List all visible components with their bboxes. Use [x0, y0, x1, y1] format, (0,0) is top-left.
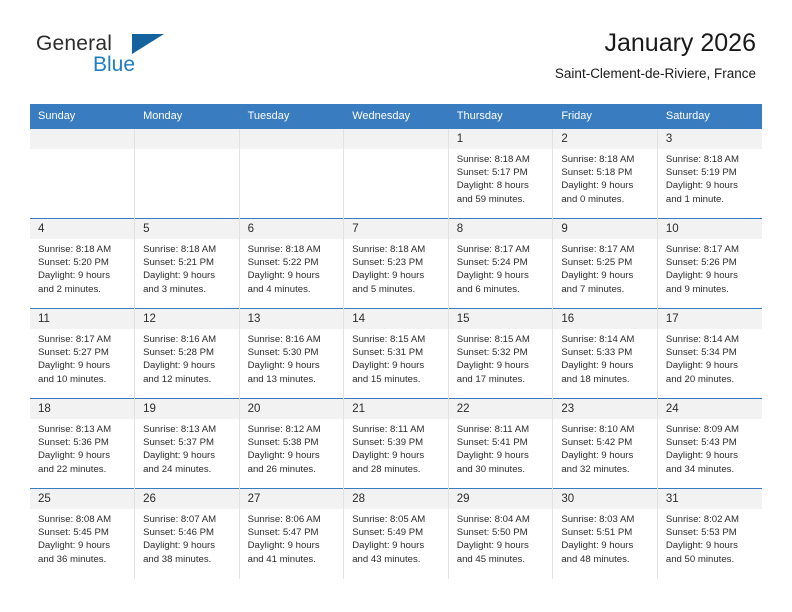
calendar-day-cell[interactable]: 9Sunrise: 8:17 AMSunset: 5:25 PMDaylight…	[553, 219, 658, 309]
cell-inner	[135, 129, 239, 218]
calendar-day-cell[interactable]: 19Sunrise: 8:13 AMSunset: 5:37 PMDayligh…	[135, 399, 240, 489]
weekday-header-monday: Monday	[135, 104, 240, 129]
day-number: 21	[344, 399, 448, 419]
sunrise-text: Sunrise: 8:08 AM	[38, 513, 128, 526]
sunset-text: Sunset: 5:46 PM	[143, 526, 233, 539]
sunrise-text: Sunrise: 8:13 AM	[38, 423, 128, 436]
sunrise-text: Sunrise: 8:16 AM	[248, 333, 338, 346]
day-sun-info: Sunrise: 8:18 AMSunset: 5:21 PMDaylight:…	[135, 239, 239, 296]
cell-inner: 30Sunrise: 8:03 AMSunset: 5:51 PMDayligh…	[553, 489, 657, 579]
day-number: 17	[658, 309, 762, 329]
day-sun-info: Sunrise: 8:18 AMSunset: 5:19 PMDaylight:…	[658, 149, 762, 206]
day-sun-info: Sunrise: 8:16 AMSunset: 5:28 PMDaylight:…	[135, 329, 239, 386]
calendar-day-cell[interactable]: 3Sunrise: 8:18 AMSunset: 5:19 PMDaylight…	[657, 129, 762, 219]
sunset-text: Sunset: 5:28 PM	[143, 346, 233, 359]
calendar-day-cell[interactable]: 7Sunrise: 8:18 AMSunset: 5:23 PMDaylight…	[344, 219, 449, 309]
sunset-text: Sunset: 5:41 PM	[457, 436, 547, 449]
daylight-text-1: Daylight: 9 hours	[561, 539, 651, 552]
daylight-text-1: Daylight: 9 hours	[561, 179, 651, 192]
weekday-header-thursday: Thursday	[448, 104, 553, 129]
weekday-header-saturday: Saturday	[657, 104, 762, 129]
daylight-text-1: Daylight: 9 hours	[248, 449, 338, 462]
cell-inner: 22Sunrise: 8:11 AMSunset: 5:41 PMDayligh…	[449, 399, 553, 488]
calendar-cell-empty	[239, 129, 344, 219]
daylight-text-2: and 12 minutes.	[143, 373, 233, 386]
day-number: 26	[135, 489, 239, 509]
daylight-text-1: Daylight: 9 hours	[457, 269, 547, 282]
daylight-text-1: Daylight: 9 hours	[352, 359, 442, 372]
day-number-placeholder	[240, 129, 344, 149]
daylight-text-1: Daylight: 9 hours	[666, 539, 756, 552]
calendar-day-cell[interactable]: 8Sunrise: 8:17 AMSunset: 5:24 PMDaylight…	[448, 219, 553, 309]
daylight-text-2: and 32 minutes.	[561, 463, 651, 476]
sunrise-text: Sunrise: 8:18 AM	[561, 153, 651, 166]
sunrise-text: Sunrise: 8:17 AM	[561, 243, 651, 256]
daylight-text-2: and 41 minutes.	[248, 553, 338, 566]
sunrise-text: Sunrise: 8:05 AM	[352, 513, 442, 526]
cell-inner: 18Sunrise: 8:13 AMSunset: 5:36 PMDayligh…	[30, 399, 134, 488]
sunrise-text: Sunrise: 8:03 AM	[561, 513, 651, 526]
day-sun-info: Sunrise: 8:07 AMSunset: 5:46 PMDaylight:…	[135, 509, 239, 566]
day-number: 6	[240, 219, 344, 239]
daylight-text-2: and 2 minutes.	[38, 283, 128, 296]
day-number: 15	[449, 309, 553, 329]
daylight-text-1: Daylight: 9 hours	[38, 539, 128, 552]
sunrise-text: Sunrise: 8:12 AM	[248, 423, 338, 436]
day-number: 8	[449, 219, 553, 239]
sunrise-text: Sunrise: 8:14 AM	[561, 333, 651, 346]
sunrise-text: Sunrise: 8:15 AM	[457, 333, 547, 346]
sunset-text: Sunset: 5:47 PM	[248, 526, 338, 539]
daylight-text-1: Daylight: 9 hours	[352, 269, 442, 282]
sunset-text: Sunset: 5:53 PM	[666, 526, 756, 539]
day-sun-info: Sunrise: 8:16 AMSunset: 5:30 PMDaylight:…	[240, 329, 344, 386]
sunrise-text: Sunrise: 8:11 AM	[457, 423, 547, 436]
cell-inner: 2Sunrise: 8:18 AMSunset: 5:18 PMDaylight…	[553, 129, 657, 218]
calendar-cell-empty	[344, 129, 449, 219]
sunset-text: Sunset: 5:36 PM	[38, 436, 128, 449]
sunrise-text: Sunrise: 8:16 AM	[143, 333, 233, 346]
calendar-day-cell[interactable]: 22Sunrise: 8:11 AMSunset: 5:41 PMDayligh…	[448, 399, 553, 489]
sunrise-text: Sunrise: 8:18 AM	[143, 243, 233, 256]
day-number: 23	[553, 399, 657, 419]
day-number: 28	[344, 489, 448, 509]
daylight-text-2: and 59 minutes.	[457, 193, 547, 206]
calendar-day-cell[interactable]: 2Sunrise: 8:18 AMSunset: 5:18 PMDaylight…	[553, 129, 658, 219]
sunset-text: Sunset: 5:49 PM	[352, 526, 442, 539]
daylight-text-2: and 20 minutes.	[666, 373, 756, 386]
calendar-day-cell[interactable]: 13Sunrise: 8:16 AMSunset: 5:30 PMDayligh…	[239, 309, 344, 399]
daylight-text-2: and 24 minutes.	[143, 463, 233, 476]
daylight-text-2: and 3 minutes.	[143, 283, 233, 296]
sunset-text: Sunset: 5:50 PM	[457, 526, 547, 539]
daylight-text-2: and 17 minutes.	[457, 373, 547, 386]
day-sun-info: Sunrise: 8:18 AMSunset: 5:22 PMDaylight:…	[240, 239, 344, 296]
sunset-text: Sunset: 5:26 PM	[666, 256, 756, 269]
sunset-text: Sunset: 5:33 PM	[561, 346, 651, 359]
day-sun-info: Sunrise: 8:13 AMSunset: 5:37 PMDaylight:…	[135, 419, 239, 476]
day-number: 18	[30, 399, 134, 419]
cell-inner	[344, 129, 448, 218]
cell-inner: 29Sunrise: 8:04 AMSunset: 5:50 PMDayligh…	[449, 489, 553, 579]
sunrise-text: Sunrise: 8:18 AM	[666, 153, 756, 166]
daylight-text-2: and 18 minutes.	[561, 373, 651, 386]
sunset-text: Sunset: 5:43 PM	[666, 436, 756, 449]
calendar-day-cell[interactable]: 5Sunrise: 8:18 AMSunset: 5:21 PMDaylight…	[135, 219, 240, 309]
calendar-day-cell[interactable]: 1Sunrise: 8:18 AMSunset: 5:17 PMDaylight…	[448, 129, 553, 219]
cell-inner: 3Sunrise: 8:18 AMSunset: 5:19 PMDaylight…	[658, 129, 762, 218]
calendar-header-row: SundayMondayTuesdayWednesdayThursdayFrid…	[30, 104, 762, 129]
day-sun-info: Sunrise: 8:08 AMSunset: 5:45 PMDaylight:…	[30, 509, 134, 566]
daylight-text-2: and 50 minutes.	[666, 553, 756, 566]
sunset-text: Sunset: 5:34 PM	[666, 346, 756, 359]
sunrise-text: Sunrise: 8:17 AM	[666, 243, 756, 256]
weekday-header-friday: Friday	[553, 104, 658, 129]
cell-inner: 11Sunrise: 8:17 AMSunset: 5:27 PMDayligh…	[30, 309, 134, 398]
cell-inner: 26Sunrise: 8:07 AMSunset: 5:46 PMDayligh…	[135, 489, 239, 579]
daylight-text-1: Daylight: 9 hours	[561, 449, 651, 462]
calendar-cell-empty	[135, 129, 240, 219]
cell-inner: 13Sunrise: 8:16 AMSunset: 5:30 PMDayligh…	[240, 309, 344, 398]
daylight-text-1: Daylight: 9 hours	[457, 449, 547, 462]
calendar-day-cell[interactable]: 24Sunrise: 8:09 AMSunset: 5:43 PMDayligh…	[657, 399, 762, 489]
day-sun-info: Sunrise: 8:17 AMSunset: 5:25 PMDaylight:…	[553, 239, 657, 296]
sunrise-text: Sunrise: 8:13 AM	[143, 423, 233, 436]
cell-inner: 5Sunrise: 8:18 AMSunset: 5:21 PMDaylight…	[135, 219, 239, 308]
daylight-text-1: Daylight: 9 hours	[457, 539, 547, 552]
sunset-text: Sunset: 5:21 PM	[143, 256, 233, 269]
sunrise-text: Sunrise: 8:02 AM	[666, 513, 756, 526]
daylight-text-2: and 30 minutes.	[457, 463, 547, 476]
calendar-day-cell[interactable]: 15Sunrise: 8:15 AMSunset: 5:32 PMDayligh…	[448, 309, 553, 399]
sunset-text: Sunset: 5:23 PM	[352, 256, 442, 269]
day-number: 1	[449, 129, 553, 149]
calendar-day-cell[interactable]: 18Sunrise: 8:13 AMSunset: 5:36 PMDayligh…	[30, 399, 135, 489]
calendar-week-row: 25Sunrise: 8:08 AMSunset: 5:45 PMDayligh…	[30, 489, 762, 579]
day-number: 24	[658, 399, 762, 419]
general-blue-logo[interactable]: General Blue	[36, 32, 236, 84]
calendar-week-row: 18Sunrise: 8:13 AMSunset: 5:36 PMDayligh…	[30, 399, 762, 489]
calendar-cell-empty	[30, 129, 135, 219]
day-sun-info: Sunrise: 8:14 AMSunset: 5:34 PMDaylight:…	[658, 329, 762, 386]
daylight-text-1: Daylight: 9 hours	[38, 359, 128, 372]
cell-inner: 31Sunrise: 8:02 AMSunset: 5:53 PMDayligh…	[658, 489, 762, 579]
daylight-text-1: Daylight: 9 hours	[143, 359, 233, 372]
day-sun-info: Sunrise: 8:11 AMSunset: 5:41 PMDaylight:…	[449, 419, 553, 476]
daylight-text-2: and 38 minutes.	[143, 553, 233, 566]
day-sun-info: Sunrise: 8:18 AMSunset: 5:17 PMDaylight:…	[449, 149, 553, 206]
cell-inner: 9Sunrise: 8:17 AMSunset: 5:25 PMDaylight…	[553, 219, 657, 308]
calendar-page: General Blue January 2026 Saint-Clement-…	[0, 0, 792, 612]
day-sun-info: Sunrise: 8:13 AMSunset: 5:36 PMDaylight:…	[30, 419, 134, 476]
calendar-body: 1Sunrise: 8:18 AMSunset: 5:17 PMDaylight…	[30, 129, 762, 579]
calendar-day-cell[interactable]: 29Sunrise: 8:04 AMSunset: 5:50 PMDayligh…	[448, 489, 553, 579]
daylight-text-1: Daylight: 9 hours	[561, 269, 651, 282]
sunrise-text: Sunrise: 8:04 AM	[457, 513, 547, 526]
day-number: 30	[553, 489, 657, 509]
daylight-text-1: Daylight: 9 hours	[666, 449, 756, 462]
day-number: 25	[30, 489, 134, 509]
sunset-text: Sunset: 5:30 PM	[248, 346, 338, 359]
sunrise-text: Sunrise: 8:18 AM	[38, 243, 128, 256]
logo-text-blue: Blue	[93, 53, 236, 77]
daylight-text-1: Daylight: 9 hours	[561, 359, 651, 372]
page-header: General Blue January 2026 Saint-Clement-…	[0, 0, 792, 72]
day-number: 31	[658, 489, 762, 509]
calendar-day-cell[interactable]: 28Sunrise: 8:05 AMSunset: 5:49 PMDayligh…	[344, 489, 449, 579]
day-sun-info: Sunrise: 8:14 AMSunset: 5:33 PMDaylight:…	[553, 329, 657, 386]
calendar-day-cell[interactable]: 26Sunrise: 8:07 AMSunset: 5:46 PMDayligh…	[135, 489, 240, 579]
cell-inner: 28Sunrise: 8:05 AMSunset: 5:49 PMDayligh…	[344, 489, 448, 579]
daylight-text-1: Daylight: 9 hours	[248, 269, 338, 282]
day-number-placeholder	[344, 129, 448, 149]
day-sun-info: Sunrise: 8:18 AMSunset: 5:23 PMDaylight:…	[344, 239, 448, 296]
daylight-text-2: and 28 minutes.	[352, 463, 442, 476]
day-number: 16	[553, 309, 657, 329]
calendar-day-cell[interactable]: 12Sunrise: 8:16 AMSunset: 5:28 PMDayligh…	[135, 309, 240, 399]
day-sun-info: Sunrise: 8:18 AMSunset: 5:20 PMDaylight:…	[30, 239, 134, 296]
daylight-text-1: Daylight: 9 hours	[248, 539, 338, 552]
weekday-header-tuesday: Tuesday	[239, 104, 344, 129]
sunrise-text: Sunrise: 8:11 AM	[352, 423, 442, 436]
calendar-day-cell[interactable]: 6Sunrise: 8:18 AMSunset: 5:22 PMDaylight…	[239, 219, 344, 309]
cell-inner: 20Sunrise: 8:12 AMSunset: 5:38 PMDayligh…	[240, 399, 344, 488]
daylight-text-2: and 4 minutes.	[248, 283, 338, 296]
cell-inner	[30, 129, 134, 218]
day-number: 9	[553, 219, 657, 239]
calendar-day-cell[interactable]: 25Sunrise: 8:08 AMSunset: 5:45 PMDayligh…	[30, 489, 135, 579]
page-title: January 2026	[555, 28, 756, 58]
daylight-text-2: and 10 minutes.	[38, 373, 128, 386]
daylight-text-2: and 0 minutes.	[561, 193, 651, 206]
cell-inner	[240, 129, 344, 218]
sunset-text: Sunset: 5:20 PM	[38, 256, 128, 269]
sunrise-text: Sunrise: 8:17 AM	[457, 243, 547, 256]
calendar-week-row: 1Sunrise: 8:18 AMSunset: 5:17 PMDaylight…	[30, 129, 762, 219]
sunset-text: Sunset: 5:24 PM	[457, 256, 547, 269]
day-number: 19	[135, 399, 239, 419]
sunset-text: Sunset: 5:51 PM	[561, 526, 651, 539]
day-number: 2	[553, 129, 657, 149]
day-number: 20	[240, 399, 344, 419]
weekday-header-sunday: Sunday	[30, 104, 135, 129]
daylight-text-2: and 43 minutes.	[352, 553, 442, 566]
day-sun-info: Sunrise: 8:15 AMSunset: 5:32 PMDaylight:…	[449, 329, 553, 386]
weekday-header: SundayMondayTuesdayWednesdayThursdayFrid…	[30, 104, 762, 129]
sunset-text: Sunset: 5:27 PM	[38, 346, 128, 359]
daylight-text-1: Daylight: 9 hours	[666, 269, 756, 282]
daylight-text-2: and 45 minutes.	[457, 553, 547, 566]
sunset-text: Sunset: 5:25 PM	[561, 256, 651, 269]
calendar-day-cell[interactable]: 17Sunrise: 8:14 AMSunset: 5:34 PMDayligh…	[657, 309, 762, 399]
sunrise-text: Sunrise: 8:10 AM	[561, 423, 651, 436]
calendar-week-row: 11Sunrise: 8:17 AMSunset: 5:27 PMDayligh…	[30, 309, 762, 399]
day-number: 7	[344, 219, 448, 239]
daylight-text-1: Daylight: 9 hours	[666, 359, 756, 372]
cell-inner: 16Sunrise: 8:14 AMSunset: 5:33 PMDayligh…	[553, 309, 657, 398]
day-sun-info: Sunrise: 8:11 AMSunset: 5:39 PMDaylight:…	[344, 419, 448, 476]
daylight-text-2: and 34 minutes.	[666, 463, 756, 476]
calendar-day-cell[interactable]: 14Sunrise: 8:15 AMSunset: 5:31 PMDayligh…	[344, 309, 449, 399]
day-sun-info: Sunrise: 8:09 AMSunset: 5:43 PMDaylight:…	[658, 419, 762, 476]
sunset-text: Sunset: 5:42 PM	[561, 436, 651, 449]
daylight-text-1: Daylight: 9 hours	[457, 359, 547, 372]
calendar-day-cell[interactable]: 31Sunrise: 8:02 AMSunset: 5:53 PMDayligh…	[657, 489, 762, 579]
calendar-day-cell[interactable]: 21Sunrise: 8:11 AMSunset: 5:39 PMDayligh…	[344, 399, 449, 489]
day-sun-info: Sunrise: 8:03 AMSunset: 5:51 PMDaylight:…	[553, 509, 657, 566]
calendar-day-cell[interactable]: 23Sunrise: 8:10 AMSunset: 5:42 PMDayligh…	[553, 399, 658, 489]
daylight-text-2: and 48 minutes.	[561, 553, 651, 566]
weekday-header-wednesday: Wednesday	[344, 104, 449, 129]
daylight-text-2: and 5 minutes.	[352, 283, 442, 296]
title-block: January 2026 Saint-Clement-de-Riviere, F…	[555, 28, 756, 84]
sunset-text: Sunset: 5:31 PM	[352, 346, 442, 359]
cell-inner: 12Sunrise: 8:16 AMSunset: 5:28 PMDayligh…	[135, 309, 239, 398]
sunrise-text: Sunrise: 8:09 AM	[666, 423, 756, 436]
sunset-text: Sunset: 5:18 PM	[561, 166, 651, 179]
daylight-text-1: Daylight: 9 hours	[38, 269, 128, 282]
day-sun-info: Sunrise: 8:02 AMSunset: 5:53 PMDaylight:…	[658, 509, 762, 566]
daylight-text-1: Daylight: 8 hours	[457, 179, 547, 192]
sunrise-text: Sunrise: 8:18 AM	[352, 243, 442, 256]
cell-inner: 10Sunrise: 8:17 AMSunset: 5:26 PMDayligh…	[658, 219, 762, 308]
calendar-day-cell[interactable]: 4Sunrise: 8:18 AMSunset: 5:20 PMDaylight…	[30, 219, 135, 309]
calendar-day-cell[interactable]: 10Sunrise: 8:17 AMSunset: 5:26 PMDayligh…	[657, 219, 762, 309]
cell-inner: 19Sunrise: 8:13 AMSunset: 5:37 PMDayligh…	[135, 399, 239, 488]
daylight-text-2: and 36 minutes.	[38, 553, 128, 566]
sunset-text: Sunset: 5:38 PM	[248, 436, 338, 449]
cell-inner: 24Sunrise: 8:09 AMSunset: 5:43 PMDayligh…	[658, 399, 762, 488]
cell-inner: 25Sunrise: 8:08 AMSunset: 5:45 PMDayligh…	[30, 489, 134, 579]
sunrise-text: Sunrise: 8:14 AM	[666, 333, 756, 346]
calendar-week-row: 4Sunrise: 8:18 AMSunset: 5:20 PMDaylight…	[30, 219, 762, 309]
day-sun-info: Sunrise: 8:17 AMSunset: 5:26 PMDaylight:…	[658, 239, 762, 296]
sunrise-text: Sunrise: 8:15 AM	[352, 333, 442, 346]
page-subtitle: Saint-Clement-de-Riviere, France	[555, 64, 756, 84]
day-number: 10	[658, 219, 762, 239]
calendar-day-cell[interactable]: 27Sunrise: 8:06 AMSunset: 5:47 PMDayligh…	[239, 489, 344, 579]
day-sun-info: Sunrise: 8:17 AMSunset: 5:27 PMDaylight:…	[30, 329, 134, 386]
daylight-text-2: and 13 minutes.	[248, 373, 338, 386]
daylight-text-1: Daylight: 9 hours	[352, 449, 442, 462]
day-sun-info: Sunrise: 8:10 AMSunset: 5:42 PMDaylight:…	[553, 419, 657, 476]
day-number-placeholder	[30, 129, 134, 149]
cell-inner: 7Sunrise: 8:18 AMSunset: 5:23 PMDaylight…	[344, 219, 448, 308]
sunset-text: Sunset: 5:17 PM	[457, 166, 547, 179]
cell-inner: 4Sunrise: 8:18 AMSunset: 5:20 PMDaylight…	[30, 219, 134, 308]
daylight-text-2: and 22 minutes.	[38, 463, 128, 476]
sunset-text: Sunset: 5:39 PM	[352, 436, 442, 449]
day-number: 27	[240, 489, 344, 509]
daylight-text-2: and 26 minutes.	[248, 463, 338, 476]
day-sun-info: Sunrise: 8:17 AMSunset: 5:24 PMDaylight:…	[449, 239, 553, 296]
day-number: 5	[135, 219, 239, 239]
sunrise-text: Sunrise: 8:07 AM	[143, 513, 233, 526]
cell-inner: 15Sunrise: 8:15 AMSunset: 5:32 PMDayligh…	[449, 309, 553, 398]
day-number-placeholder	[135, 129, 239, 149]
day-number: 12	[135, 309, 239, 329]
day-sun-info: Sunrise: 8:15 AMSunset: 5:31 PMDaylight:…	[344, 329, 448, 386]
day-sun-info: Sunrise: 8:04 AMSunset: 5:50 PMDaylight:…	[449, 509, 553, 566]
calendar-day-cell[interactable]: 20Sunrise: 8:12 AMSunset: 5:38 PMDayligh…	[239, 399, 344, 489]
daylight-text-1: Daylight: 9 hours	[143, 269, 233, 282]
cell-inner: 21Sunrise: 8:11 AMSunset: 5:39 PMDayligh…	[344, 399, 448, 488]
calendar-day-cell[interactable]: 16Sunrise: 8:14 AMSunset: 5:33 PMDayligh…	[553, 309, 658, 399]
logo-triangle-icon	[132, 34, 164, 54]
daylight-text-1: Daylight: 9 hours	[143, 539, 233, 552]
calendar-day-cell[interactable]: 11Sunrise: 8:17 AMSunset: 5:27 PMDayligh…	[30, 309, 135, 399]
calendar-grid: SundayMondayTuesdayWednesdayThursdayFrid…	[30, 104, 762, 579]
cell-inner: 23Sunrise: 8:10 AMSunset: 5:42 PMDayligh…	[553, 399, 657, 488]
cell-inner: 6Sunrise: 8:18 AMSunset: 5:22 PMDaylight…	[240, 219, 344, 308]
daylight-text-1: Daylight: 9 hours	[666, 179, 756, 192]
sunset-text: Sunset: 5:45 PM	[38, 526, 128, 539]
daylight-text-1: Daylight: 9 hours	[38, 449, 128, 462]
sunrise-text: Sunrise: 8:17 AM	[38, 333, 128, 346]
day-number: 29	[449, 489, 553, 509]
daylight-text-1: Daylight: 9 hours	[352, 539, 442, 552]
sunset-text: Sunset: 5:32 PM	[457, 346, 547, 359]
day-sun-info: Sunrise: 8:18 AMSunset: 5:18 PMDaylight:…	[553, 149, 657, 206]
day-sun-info: Sunrise: 8:12 AMSunset: 5:38 PMDaylight:…	[240, 419, 344, 476]
day-number: 3	[658, 129, 762, 149]
cell-inner: 8Sunrise: 8:17 AMSunset: 5:24 PMDaylight…	[449, 219, 553, 308]
sunset-text: Sunset: 5:37 PM	[143, 436, 233, 449]
day-number: 14	[344, 309, 448, 329]
day-number: 11	[30, 309, 134, 329]
cell-inner: 27Sunrise: 8:06 AMSunset: 5:47 PMDayligh…	[240, 489, 344, 579]
day-number: 4	[30, 219, 134, 239]
cell-inner: 17Sunrise: 8:14 AMSunset: 5:34 PMDayligh…	[658, 309, 762, 398]
day-sun-info: Sunrise: 8:05 AMSunset: 5:49 PMDaylight:…	[344, 509, 448, 566]
daylight-text-2: and 7 minutes.	[561, 283, 651, 296]
daylight-text-2: and 6 minutes.	[457, 283, 547, 296]
day-number: 13	[240, 309, 344, 329]
calendar-day-cell[interactable]: 30Sunrise: 8:03 AMSunset: 5:51 PMDayligh…	[553, 489, 658, 579]
sunset-text: Sunset: 5:22 PM	[248, 256, 338, 269]
day-sun-info: Sunrise: 8:06 AMSunset: 5:47 PMDaylight:…	[240, 509, 344, 566]
day-number: 22	[449, 399, 553, 419]
daylight-text-1: Daylight: 9 hours	[248, 359, 338, 372]
cell-inner: 1Sunrise: 8:18 AMSunset: 5:17 PMDaylight…	[449, 129, 553, 218]
sunrise-text: Sunrise: 8:06 AM	[248, 513, 338, 526]
daylight-text-2: and 1 minute.	[666, 193, 756, 206]
sunset-text: Sunset: 5:19 PM	[666, 166, 756, 179]
daylight-text-2: and 15 minutes.	[352, 373, 442, 386]
sunrise-text: Sunrise: 8:18 AM	[248, 243, 338, 256]
daylight-text-2: and 9 minutes.	[666, 283, 756, 296]
sunrise-text: Sunrise: 8:18 AM	[457, 153, 547, 166]
cell-inner: 14Sunrise: 8:15 AMSunset: 5:31 PMDayligh…	[344, 309, 448, 398]
daylight-text-1: Daylight: 9 hours	[143, 449, 233, 462]
